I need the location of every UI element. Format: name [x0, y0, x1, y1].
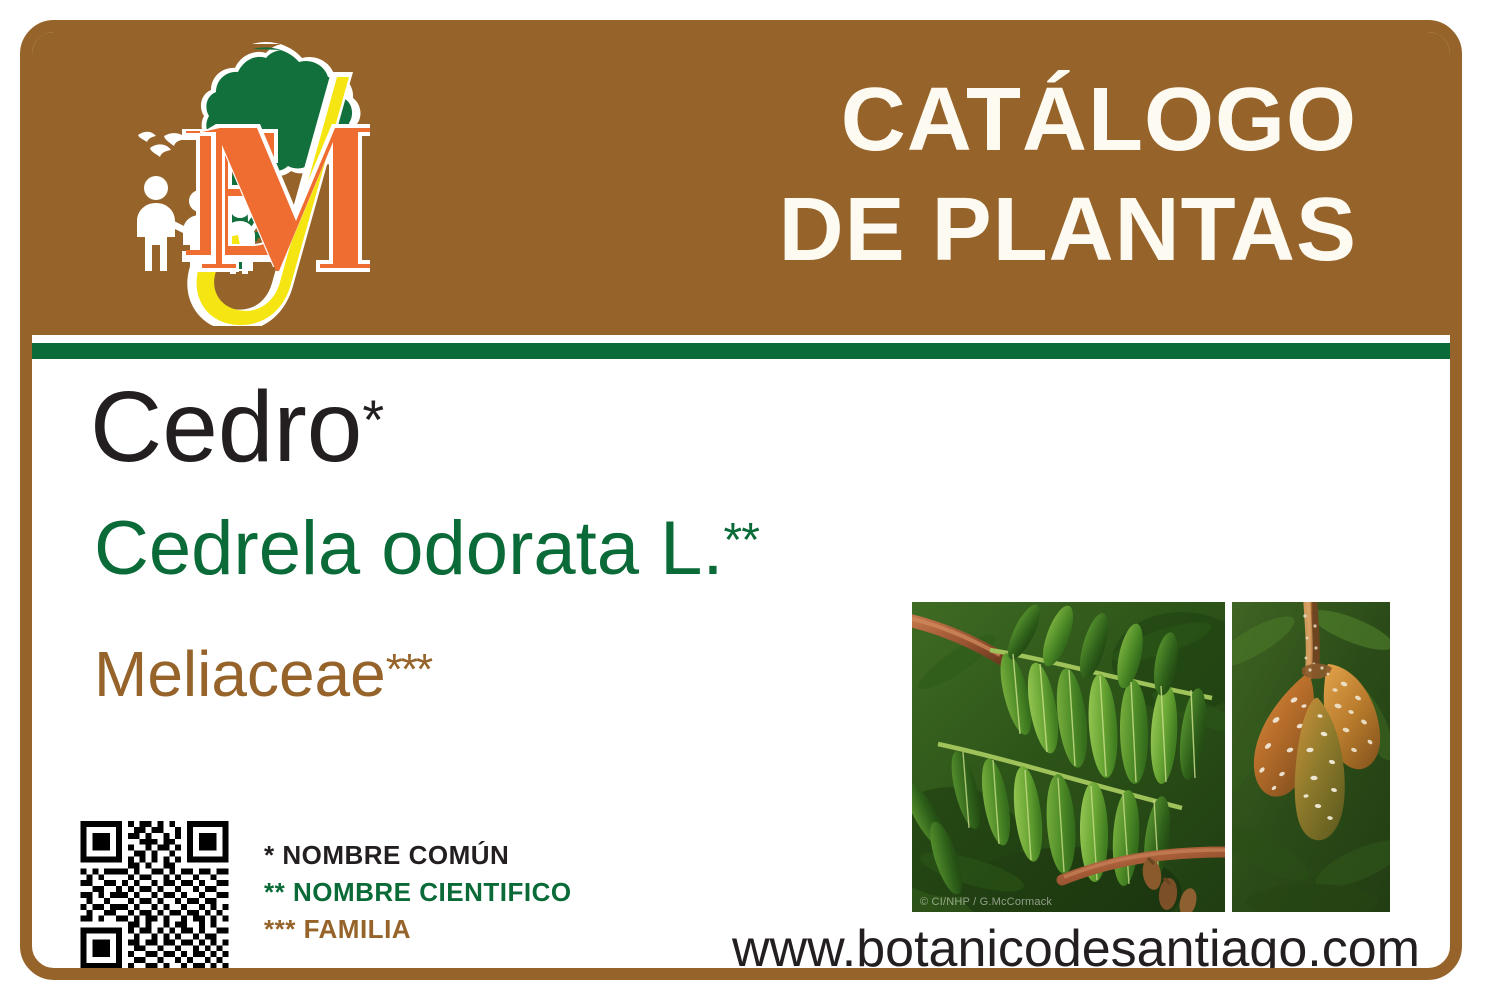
- fruits-photo: [1232, 602, 1390, 912]
- common-name-text: Cedro: [90, 371, 362, 483]
- scientific-name-text: Cedrela odorata L.: [94, 506, 724, 591]
- legend-item-common-name: * NOMBRE COMÚN: [264, 837, 572, 874]
- title-line-2: DE PLANTAS: [677, 176, 1357, 286]
- family-name-marker: ***: [386, 645, 431, 694]
- legend-item-family: *** FAMILIA: [264, 911, 572, 948]
- qr-code[interactable]: [77, 821, 232, 969]
- scientific-name-marker: **: [724, 514, 759, 567]
- em-botanical-garden-logo: [120, 36, 370, 326]
- website-url[interactable]: www.botanicodesantiago.com: [732, 919, 1412, 979]
- card-header: CATÁLOGO DE PLANTAS: [20, 20, 1462, 335]
- green-divider: [32, 343, 1450, 359]
- family-name: Meliaceae***: [94, 642, 431, 706]
- plant-photos: © CI/NHP / G.McCormack: [912, 602, 1390, 912]
- title-line-1: CATÁLOGO: [677, 66, 1357, 176]
- common-name-marker: *: [362, 388, 383, 451]
- family-name-text: Meliaceae: [94, 638, 386, 710]
- leaves-photo: © CI/NHP / G.McCormack: [912, 602, 1225, 912]
- scientific-name: Cedrela odorata L.**: [94, 511, 759, 587]
- birds-icon: [138, 132, 186, 157]
- common-name: Cedro*: [90, 377, 383, 477]
- card-body: Cedro* Cedrela odorata L.** Meliaceae***…: [32, 359, 1450, 968]
- plant-catalog-card: CATÁLOGO DE PLANTAS Cedro* Cedrela odora…: [20, 20, 1462, 980]
- photo-watermark: © CI/NHP / G.McCormack: [920, 896, 1052, 908]
- legend-item-scientific-name: ** NOMBRE CIENTIFICO: [264, 874, 572, 911]
- page-title: CATÁLOGO DE PLANTAS: [677, 66, 1357, 286]
- legend: * NOMBRE COMÚN ** NOMBRE CIENTIFICO *** …: [264, 837, 572, 948]
